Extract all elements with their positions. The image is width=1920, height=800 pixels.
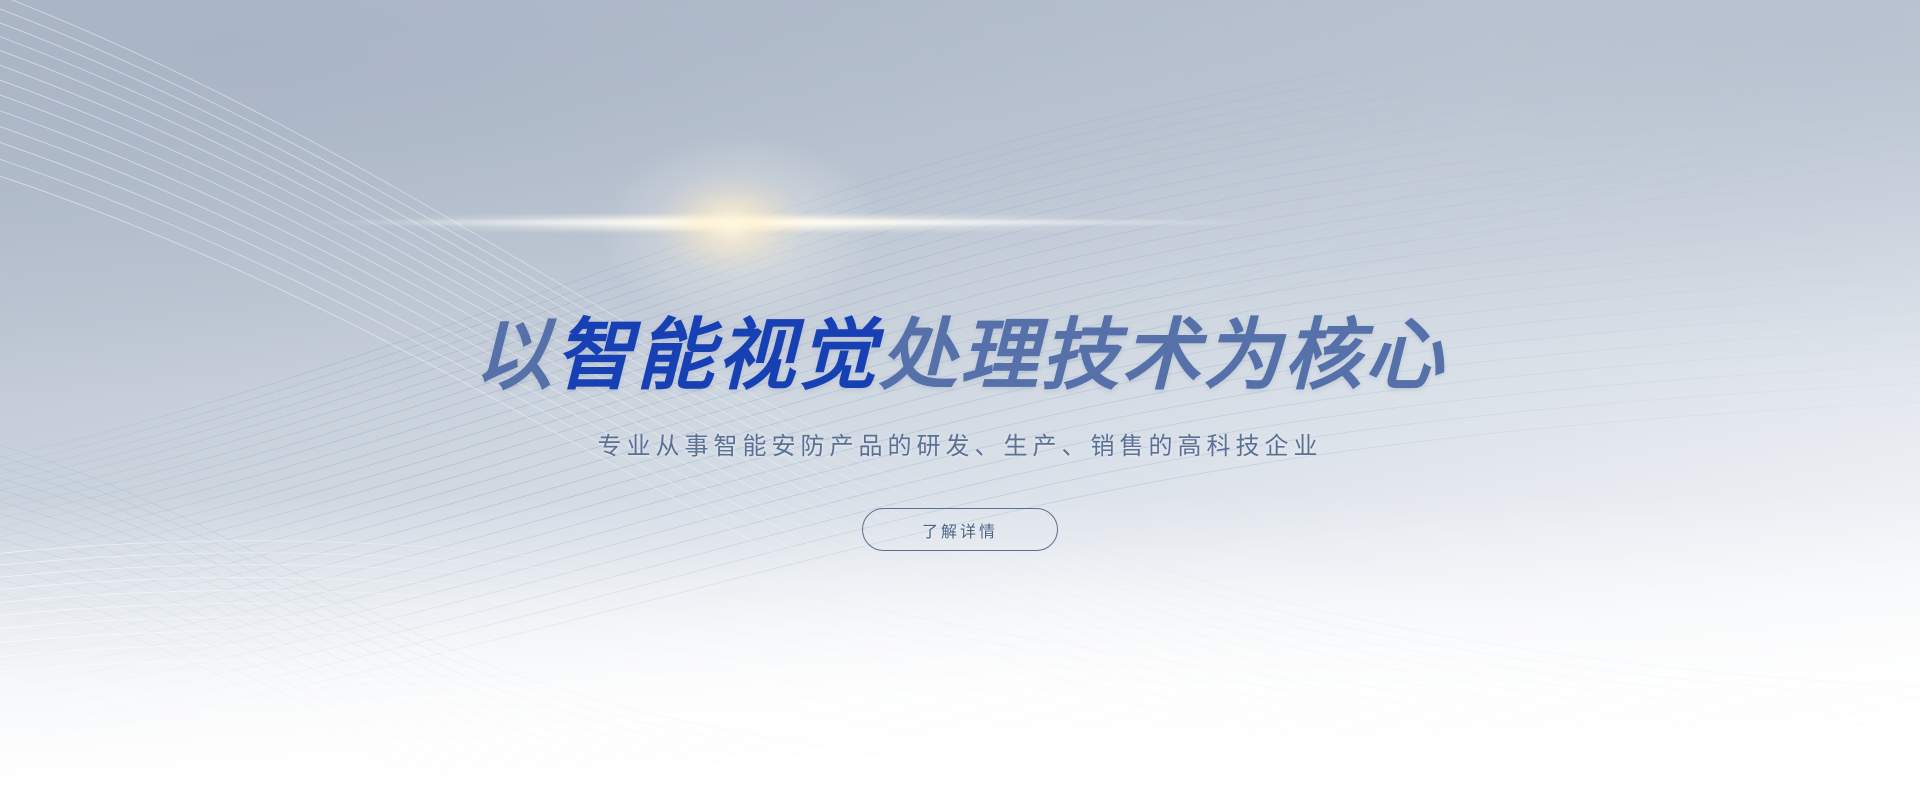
learn-more-button[interactable]: 了解详情	[862, 508, 1058, 551]
hero-content: 以智能视觉处理技术为核心 专业从事智能安防产品的研发、生产、销售的高科技企业 了…	[0, 0, 1920, 800]
page-subtitle: 专业从事智能安防产品的研发、生产、销售的高科技企业	[0, 426, 1920, 461]
page-title: 以智能视觉处理技术为核心	[0, 317, 1920, 395]
title-segment-accent: 智能视觉	[555, 311, 879, 401]
hero-banner: 以智能视觉处理技术为核心 专业从事智能安防产品的研发、生产、销售的高科技企业 了…	[0, 0, 1920, 800]
title-segment-tail: 处理技术为核心	[879, 311, 1446, 401]
cta-container: 了解详情	[0, 508, 1920, 551]
title-segment-lead: 以	[474, 311, 555, 401]
